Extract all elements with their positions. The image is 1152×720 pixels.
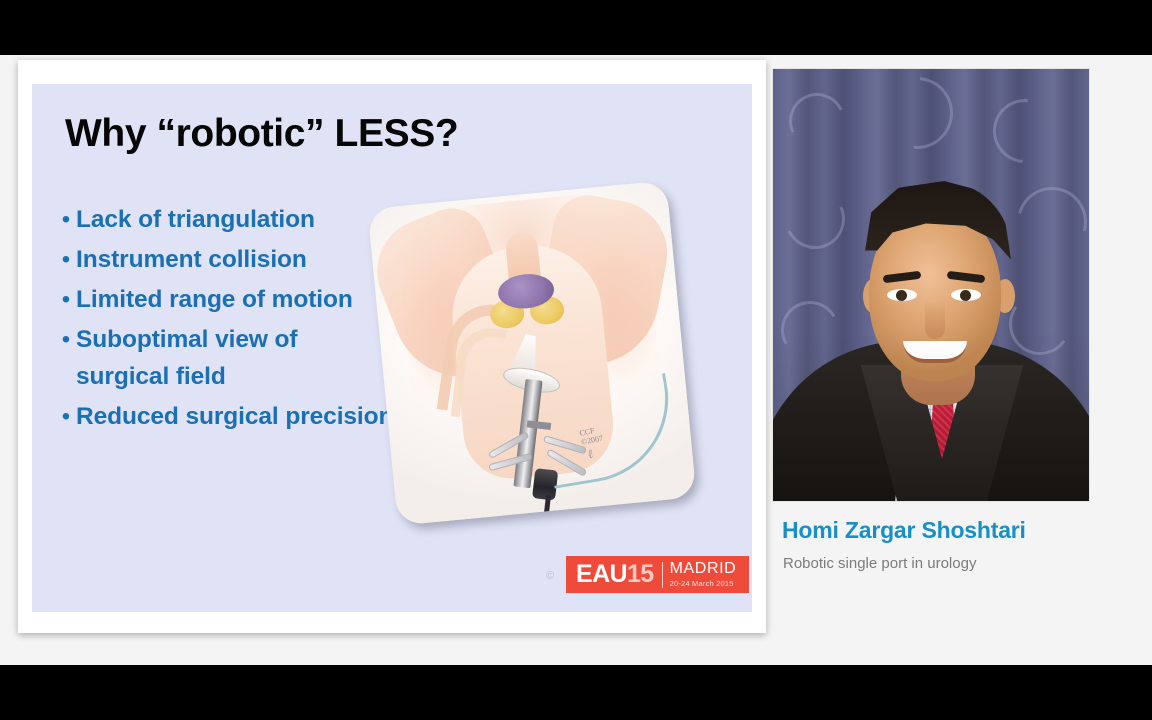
bullet-dot-icon: • (56, 321, 76, 358)
list-item: • Suboptimal view of surgical field (56, 321, 396, 395)
swirl-pattern (866, 68, 967, 164)
list-item: • Lack of triangulation (56, 201, 396, 238)
slide-card[interactable]: Why “robotic” LESS? • Lack of triangulat… (18, 60, 766, 633)
eye-right (951, 289, 981, 301)
speaker-photo (772, 68, 1090, 502)
eau-logo-city: MADRID (670, 561, 737, 578)
bullet-dot-icon: • (56, 201, 76, 238)
eau-logo-city-block: MADRID 20-24 March 2015 (670, 561, 737, 588)
swirl-pattern (980, 86, 1070, 176)
pupil (960, 290, 971, 301)
swirl-pattern (774, 294, 845, 365)
bullet-list: • Lack of triangulation • Instrument col… (56, 201, 396, 438)
letterbox-top (0, 0, 1152, 55)
eau-logo-year: 15 (627, 560, 654, 588)
speaker-name: Homi Zargar Shoshtari (782, 517, 1026, 544)
illustration-body-panel: CCF ©2007 ℓ (367, 180, 696, 525)
illustration-credit: CCF ©2007 (579, 425, 604, 447)
surgical-illustration: CCF ©2007 ℓ (382, 194, 704, 524)
speaker-panel: Homi Zargar Shoshtari Robotic single por… (772, 55, 1090, 595)
bullet-text: Suboptimal view of surgical field (76, 321, 396, 395)
eau-logo-dates: 20-24 March 2015 (670, 579, 737, 588)
copyright-icon: © (546, 570, 554, 582)
bullet-dot-icon: • (56, 281, 76, 318)
slide-title: Why “robotic” LESS? (65, 112, 458, 156)
bullet-text: Instrument collision (76, 241, 396, 278)
bullet-text: Reduced surgical precision (76, 398, 396, 435)
slide-content: Why “robotic” LESS? • Lack of triangulat… (32, 84, 752, 612)
eau-logo-divider (662, 562, 663, 588)
eau-logo-mark: EAU15 (576, 562, 654, 587)
swirl-pattern (1004, 174, 1090, 270)
list-item: • Limited range of motion (56, 281, 396, 318)
list-item: • Instrument collision (56, 241, 396, 278)
eye-left (887, 289, 917, 301)
bullet-dot-icon: • (56, 398, 76, 435)
letterbox-bottom (0, 665, 1152, 720)
list-item: • Reduced surgical precision (56, 398, 396, 435)
swirl-pattern (1004, 288, 1076, 360)
eau-logo-letters: EAU (576, 560, 627, 588)
bullet-text: Limited range of motion (76, 281, 396, 318)
nose (925, 299, 945, 339)
bullet-dot-icon: • (56, 241, 76, 278)
swirl-pattern (781, 85, 853, 157)
eau-congress-logo: EAU15 MADRID 20-24 March 2015 (566, 556, 749, 593)
page-surface: Why “robotic” LESS? • Lack of triangulat… (0, 55, 1152, 665)
pupil (896, 290, 907, 301)
presentation-viewer: Why “robotic” LESS? • Lack of triangulat… (0, 0, 1152, 720)
swirl-pattern (777, 181, 854, 258)
bullet-text: Lack of triangulation (76, 201, 396, 238)
speaker-topic: Robotic single port in urology (783, 555, 976, 572)
